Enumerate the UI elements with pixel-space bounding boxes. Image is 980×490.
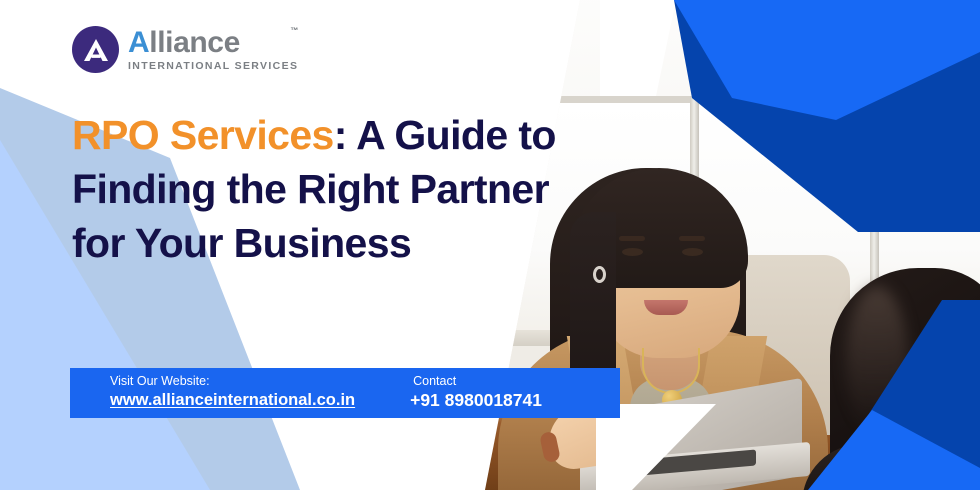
brand-logo[interactable]: Alliance ™ INTERNATIONAL SERVICES xyxy=(72,26,298,73)
logo-word-rest: lliance xyxy=(149,26,240,59)
website-url-link[interactable]: www.allianceinternational.co.in xyxy=(110,390,355,411)
logo-word-first: A xyxy=(128,26,149,59)
website-label: Visit Our Website: xyxy=(110,374,355,390)
phone-number[interactable]: +91 8980018741 xyxy=(410,389,542,412)
marketing-banner: Alliance ™ INTERNATIONAL SERVICES RPO Se… xyxy=(0,0,980,490)
headline-accent: RPO Services xyxy=(72,112,334,158)
website-block[interactable]: Visit Our Website: www.allianceinternati… xyxy=(70,374,355,411)
trademark-symbol: ™ xyxy=(290,26,298,35)
phone-block[interactable]: Contact +91 8980018741 xyxy=(355,374,542,412)
contact-bar: Visit Our Website: www.allianceinternati… xyxy=(70,368,620,418)
phone-label: Contact xyxy=(410,374,542,390)
alliance-a-monogram-icon xyxy=(72,26,119,73)
page-title: RPO Services: A Guide to Finding the Rig… xyxy=(72,108,592,270)
logo-tagline: INTERNATIONAL SERVICES xyxy=(128,60,298,72)
